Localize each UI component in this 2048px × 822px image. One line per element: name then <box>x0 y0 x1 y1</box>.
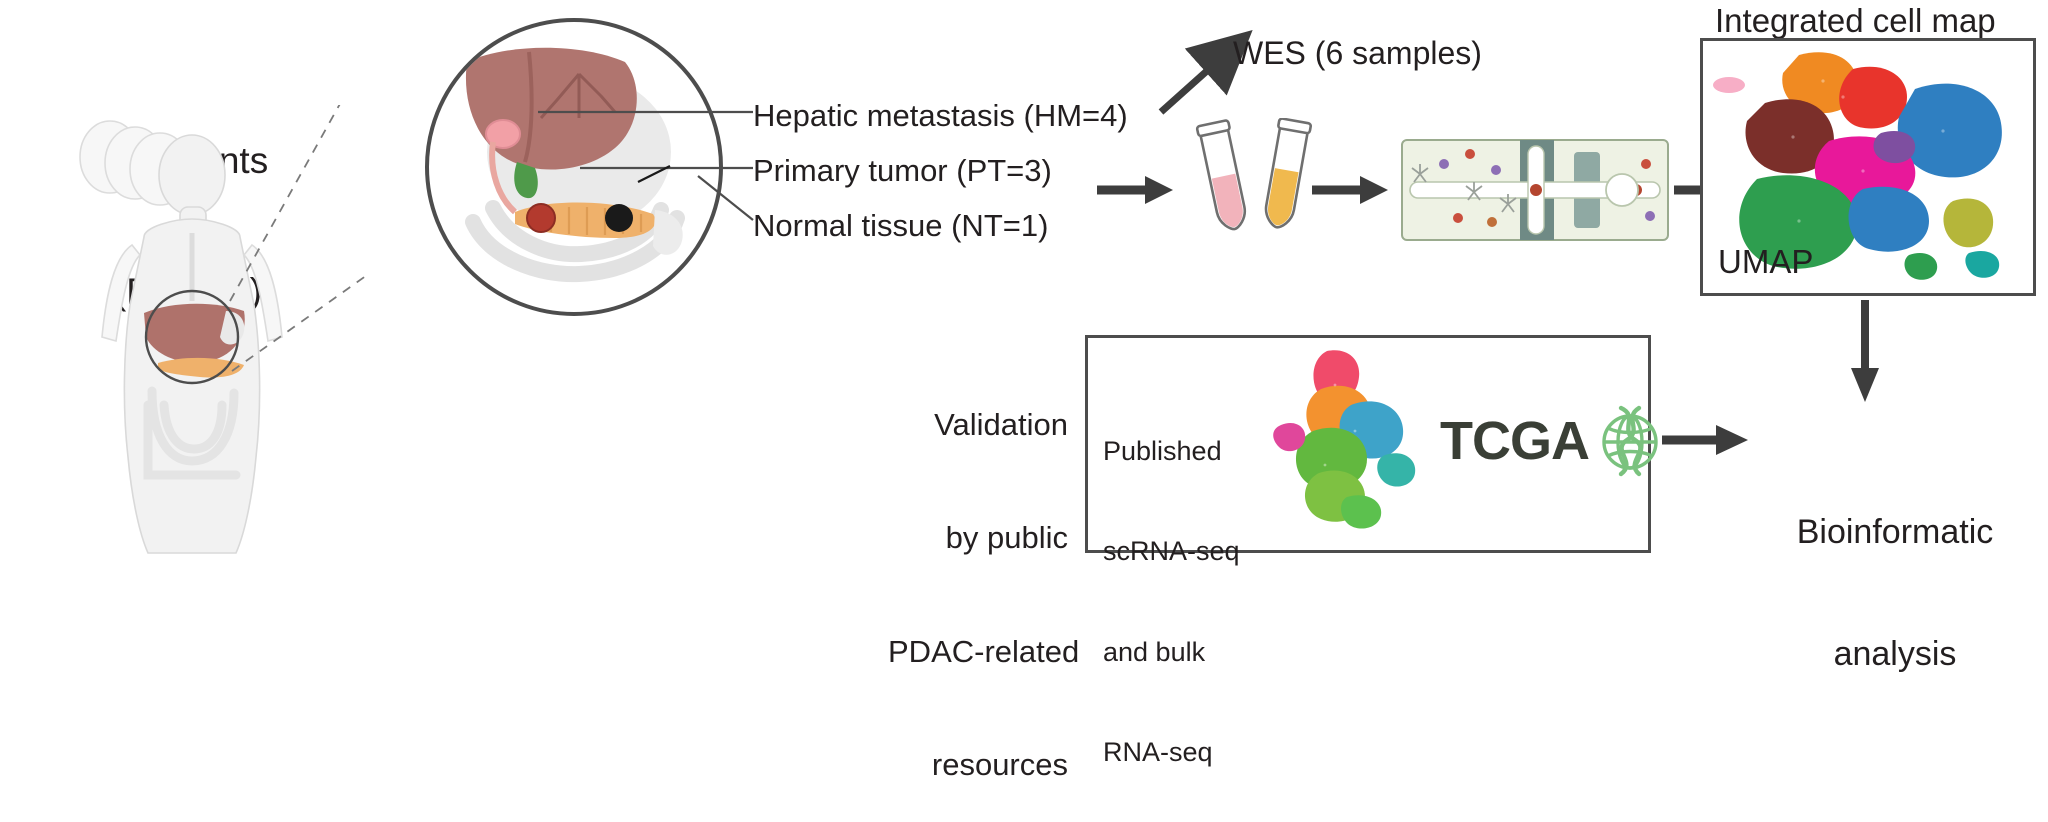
resource-line-1: Published <box>1103 435 1243 468</box>
tcga-globe-icon <box>1593 400 1667 482</box>
tcga-logo: TCGA <box>1440 400 1667 482</box>
label-primary-tumor: Primary tumor (PT=3) <box>753 153 1052 190</box>
validation-heading: Validation by public PDAC-related resour… <box>888 330 1068 822</box>
published-data-label: Published scRNA-seq and bulk RNA-seq <box>1103 368 1243 803</box>
arrow-umap-to-bioinfo <box>1845 298 1885 408</box>
wes-label: WES (6 samples) <box>1233 35 1482 73</box>
sample-tubes <box>1185 118 1325 248</box>
label-hepatic-metastasis: Hepatic metastasis (HM=4) <box>753 98 1128 135</box>
arrow-resources-to-bioinfo <box>1660 418 1750 462</box>
tcga-wordmark: TCGA <box>1440 410 1589 472</box>
validation-line-4: resources <box>888 746 1068 784</box>
validation-line-2: by public <box>888 519 1068 557</box>
bioinfo-line-2: analysis <box>1770 634 2020 675</box>
validation-line-1: Validation <box>888 406 1068 444</box>
public-data-umap-thumbnail <box>1255 345 1435 535</box>
microfluidics-chip <box>1400 130 1670 250</box>
umap-panel-title: Integrated cell map <box>1715 2 1996 41</box>
label-leader-lines <box>520 80 770 240</box>
validation-line-3: PDAC-related <box>888 633 1068 671</box>
label-normal-tissue: Normal tissue (NT=1) <box>753 208 1048 245</box>
umap-axis-caption: UMAP <box>1718 243 1813 282</box>
resource-line-4: RNA-seq <box>1103 736 1243 769</box>
arrow-organ-to-samples <box>1095 170 1175 210</box>
bioinfo-line-1: Bioinformatic <box>1770 512 2020 553</box>
patient-silhouettes <box>40 105 370 565</box>
resource-line-3: and bulk <box>1103 636 1243 669</box>
arrow-samples-to-chip <box>1310 170 1390 210</box>
resource-line-2: scRNA-seq <box>1103 535 1243 568</box>
